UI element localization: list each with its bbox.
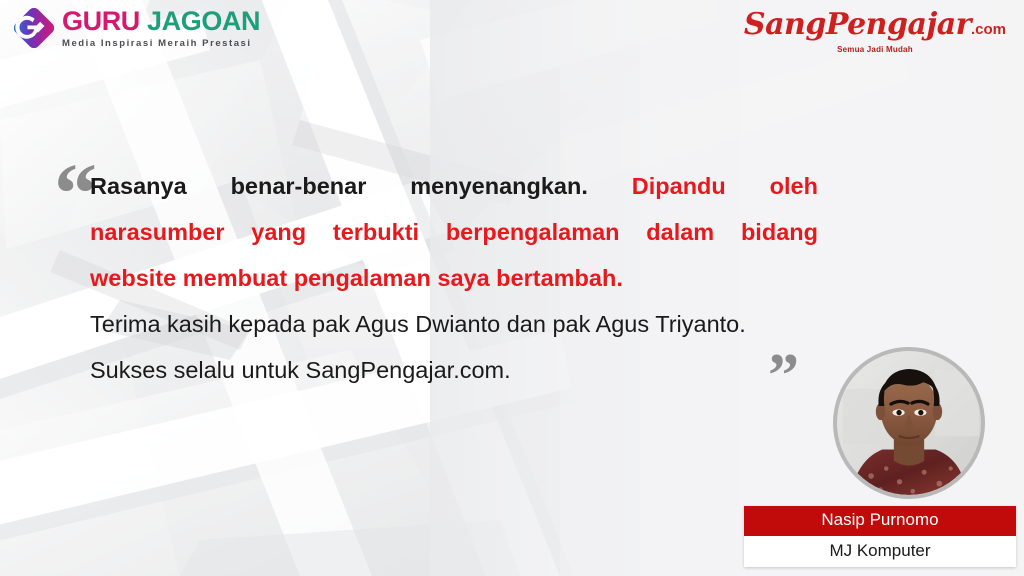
author-name: Nasip Purnomo <box>744 506 1016 536</box>
quote-word: benar-benar <box>231 163 367 209</box>
quote-word: Rasanya <box>90 163 187 209</box>
author-organization: MJ Komputer <box>744 536 1016 568</box>
quote-word: menyenangkan. <box>410 163 588 209</box>
guru-jagoan-logo: GURU JAGOAN Media Inspirasi Meraih Prest… <box>14 8 260 49</box>
avatar <box>833 347 985 499</box>
brand-name-part1: GURU <box>62 6 140 36</box>
quote-word: terbukti <box>333 209 419 255</box>
quote-word: berpengalaman <box>446 209 620 255</box>
guru-jagoan-mark-icon <box>14 8 54 48</box>
sangpengajar-suffix: .com <box>971 21 1006 38</box>
testimonial-text: Rasanya benar-benar menyenangkan. Dipand… <box>90 163 818 393</box>
sangpengajar-tagline: Semua Jadi Mudah <box>744 45 1006 54</box>
sangpengajar-logo: SangPengajar.com Semua Jadi Mudah <box>744 10 1006 54</box>
quote-word: narasumber <box>90 209 225 255</box>
guru-jagoan-wordmark: GURU JAGOAN Media Inspirasi Meraih Prest… <box>62 8 260 49</box>
quote-line-4: Terima kasih kepada pak Agus Dwianto dan… <box>90 301 818 347</box>
quote-line-2: narasumber yang terbukti berpengalaman d… <box>90 209 818 255</box>
brand-name-part2: JAGOAN <box>147 6 260 36</box>
quote-word: oleh <box>770 163 818 209</box>
quote-line-1: Rasanya benar-benar menyenangkan. Dipand… <box>90 163 818 209</box>
testimonial-slide: GURU JAGOAN Media Inspirasi Meraih Prest… <box>0 0 1024 576</box>
portrait-photo <box>837 351 981 495</box>
quote-word: yang <box>251 209 306 255</box>
author-nameplate: Nasip Purnomo MJ Komputer <box>744 506 1016 567</box>
quote-word: dalam <box>646 209 714 255</box>
brand-tagline: Media Inspirasi Meraih Prestasi <box>62 39 260 49</box>
quote-line-5: Sukses selalu untuk SangPengajar.com. <box>90 347 818 393</box>
sangpengajar-wordmark: SangPengajar.com <box>744 10 1006 40</box>
quote-word: Dipandu <box>632 163 726 209</box>
quote-word: bidang <box>741 209 818 255</box>
quote-line-3: website membuat pengalaman saya bertamba… <box>90 255 818 301</box>
sangpengajar-name: SangPengajar <box>744 7 971 42</box>
